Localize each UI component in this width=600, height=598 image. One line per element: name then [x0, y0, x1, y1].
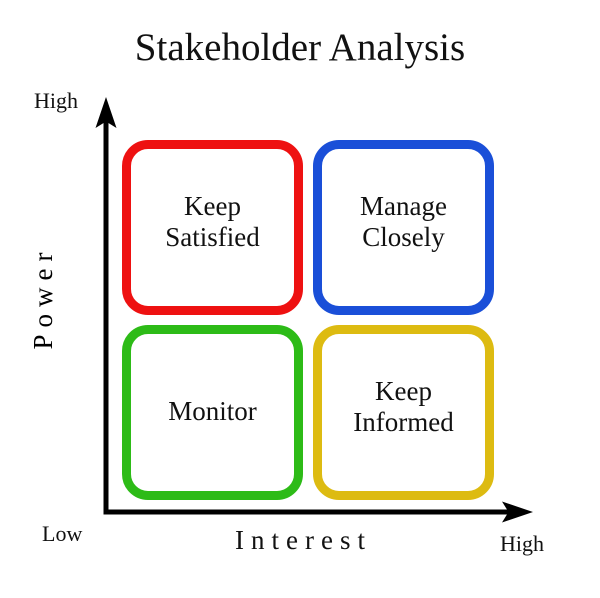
- quadrant-keep-informed[interactable]: Keep Informed: [313, 325, 494, 500]
- y-axis-high-label: High: [34, 88, 78, 114]
- quadrant-monitor[interactable]: Monitor: [122, 325, 303, 500]
- page-title: Stakeholder Analysis: [0, 26, 600, 70]
- quadrant-label-monitor: Monitor: [168, 334, 257, 427]
- quadrant-label-keep-informed: Keep Informed: [353, 334, 453, 438]
- y-axis-title: Power: [27, 221, 59, 381]
- x-axis-arrowhead-icon: [502, 502, 533, 523]
- y-axis-arrowhead-icon: [96, 97, 117, 128]
- quadrant-keep-satisfied[interactable]: Keep Satisfied: [122, 140, 303, 315]
- quadrant-label-manage-closely: Manage Closely: [360, 149, 447, 253]
- quadrant-manage-closely[interactable]: Manage Closely: [313, 140, 494, 315]
- diagram-canvas: Stakeholder Analysis Keep Satisfied Mana…: [0, 0, 600, 598]
- quadrant-label-keep-satisfied: Keep Satisfied: [165, 149, 260, 253]
- quadrant-grid: Keep Satisfied Manage Closely Monitor Ke…: [122, 140, 484, 490]
- x-axis-title: Interest: [0, 524, 600, 556]
